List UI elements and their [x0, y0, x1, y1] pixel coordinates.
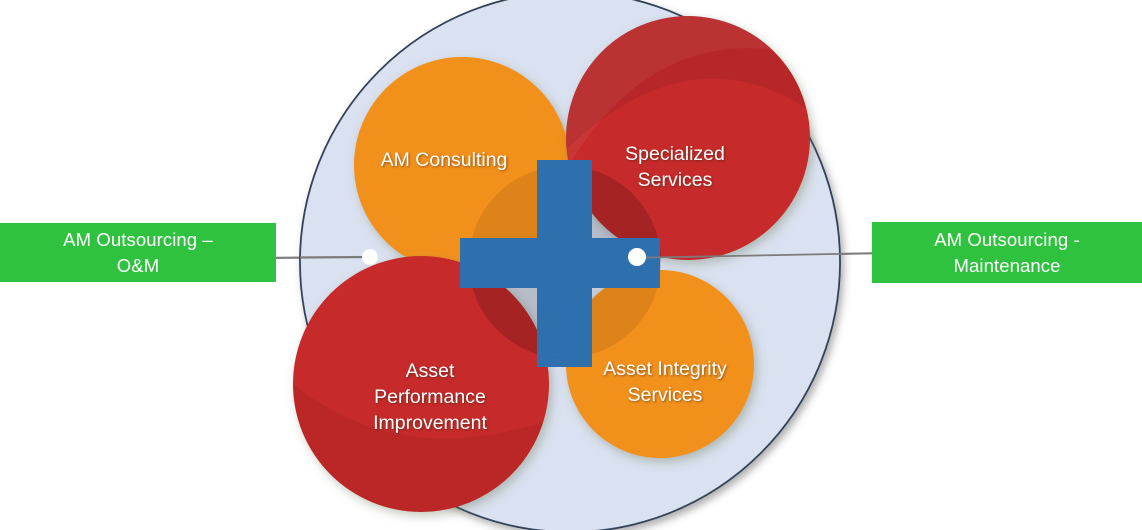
callout-am-outsourcing-maintenance[interactable]: AM Outsourcing - Maintenance: [872, 222, 1142, 283]
callout-label-text: AM Outsourcing - Maintenance: [934, 227, 1080, 278]
diagram-canvas: AM Consulting Specialized Services Asset…: [0, 0, 1142, 530]
callout-am-outsourcing-om[interactable]: AM Outsourcing – O&M: [0, 223, 276, 282]
callout-label-text: AM Outsourcing – O&M: [63, 227, 213, 278]
connector-line-left-overlay: [300, 257, 370, 258]
connector-dot-left[interactable]: [362, 249, 378, 265]
connector-dot-right[interactable]: [628, 248, 646, 266]
